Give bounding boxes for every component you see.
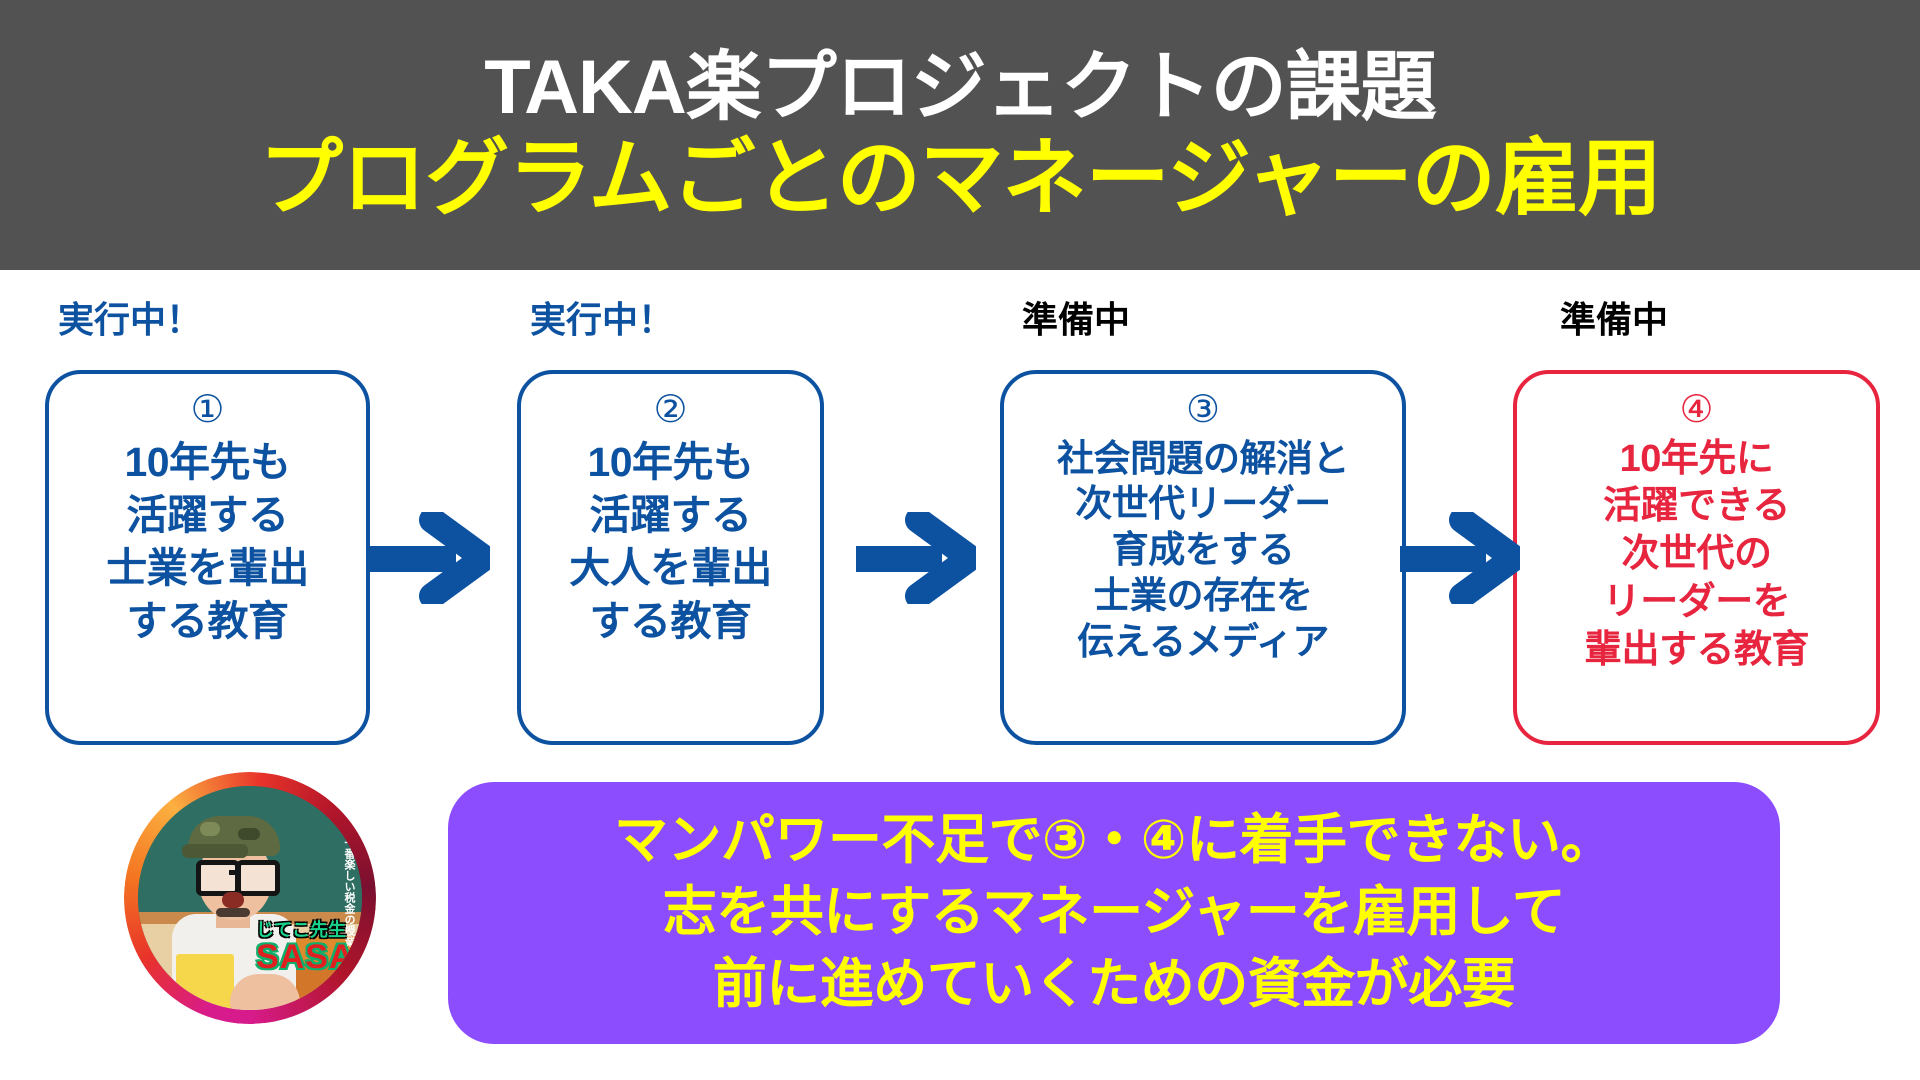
callout-text: マンパワー不足で③・④に着手できない。 志を共にするマネージャーを雇用して 前に… [614,805,1614,1020]
photo-book [176,954,234,1010]
step-text-2: 10年先も 活躍する 大人を輩出 する教育 [569,436,772,649]
photo-handle-label: SASA [256,938,354,977]
callout-panel: マンパワー不足で③・④に着手できない。 志を共にするマネージャーを雇用して 前に… [448,782,1780,1044]
step-number-1: ① [190,388,224,434]
avatar-photo: 日本で一番楽しい税金の授業 じてこ先生 SASA [138,786,362,1010]
step-number-3: ③ [1186,388,1220,434]
photo-person-beard [216,908,250,917]
step-text-1: 10年先も 活躍する 士業を輩出 する教育 [106,436,309,649]
stage-status-label-2: 実行中！ [530,302,674,338]
page-subtitle: プログラムごとのマネージャーの雇用 [259,135,1661,222]
right-arrow-icon-3 [1400,512,1520,604]
photo-cap-pattern-1 [200,822,220,836]
photo-cap-brim [182,844,248,858]
header-banner: TAKA楽プロジェクトの課題 プログラムごとのマネージャーの雇用 [0,0,1920,270]
right-arrow-icon-2 [856,512,976,604]
right-arrow-icon-1 [370,512,490,604]
photo-glasses-bridge [229,870,238,875]
flow-step-box-3[interactable]: ③ 社会問題の解消と 次世代リーダー 育成をする 士業の存在を 伝えるメディア [1000,370,1406,745]
photo-person-mouth [222,892,244,908]
stage-status-label-1: 実行中！ [58,302,202,338]
photo-cap-pattern-2 [238,828,260,840]
photo-glasses-right [236,860,280,896]
flow-step-box-2[interactable]: ② 10年先も 活躍する 大人を輩出 する教育 [517,370,824,745]
avatar: 日本で一番楽しい税金の授業 じてこ先生 SASA [124,772,376,1024]
stage-status-label-3: 準備中 [1022,302,1130,338]
step-number-2: ② [653,388,687,434]
step-number-4: ④ [1679,388,1713,434]
stage-status-label-4: 準備中 [1560,302,1668,338]
flow-step-box-4[interactable]: ④ 10年先に 活躍できる 次世代の リーダーを 輩出する教育 [1513,370,1880,745]
page-title: TAKA楽プロジェクトの課題 [484,48,1435,129]
step-text-4: 10年先に 活躍できる 次世代の リーダーを 輩出する教育 [1584,436,1809,675]
flow-step-box-1[interactable]: ① 10年先も 活躍する 士業を輩出 する教育 [45,370,370,745]
photo-glasses-left [196,860,240,896]
step-text-3: 社会問題の解消と 次世代リーダー 育成をする 士業の存在を 伝えるメディア [1057,436,1349,665]
